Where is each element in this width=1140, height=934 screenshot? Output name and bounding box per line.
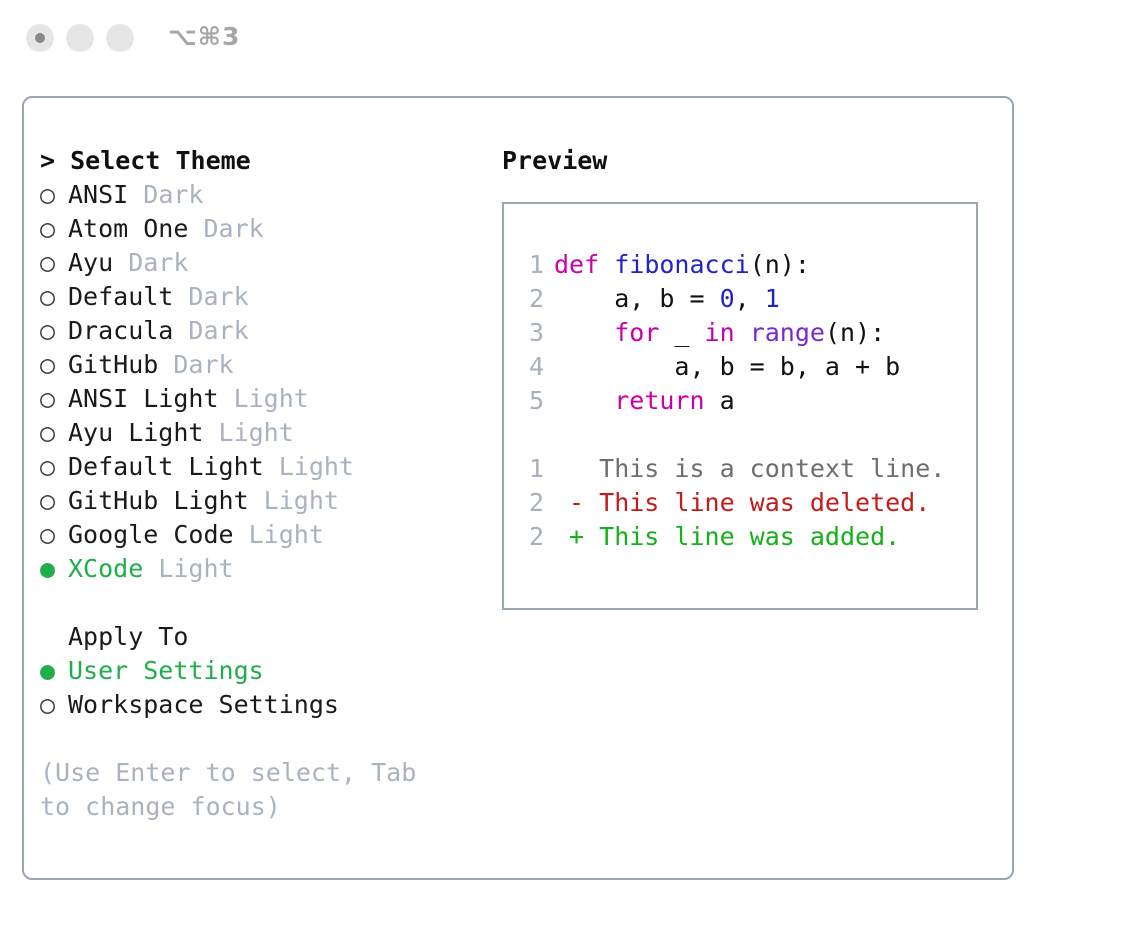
theme-option-name: Ayu: [68, 248, 113, 277]
theme-option-row[interactable]: ○Dracula Dark: [40, 314, 490, 348]
apply-to-option-name: Workspace Settings: [68, 690, 339, 719]
code-token: _: [659, 318, 704, 347]
theme-option-row[interactable]: ○ANSI Light Light: [40, 382, 490, 416]
apply-to-heading: Apply To: [40, 620, 490, 654]
preview-box: 1def fibonacci(n):2 a, b = 0, 13 for _ i…: [502, 202, 978, 610]
radio-unselected-icon: ○: [40, 518, 68, 552]
select-theme-heading: > Select Theme: [40, 144, 490, 178]
code-line-number: 4: [512, 350, 544, 384]
diff-line-text: + This line was added.: [554, 522, 900, 551]
apply-to-list[interactable]: ●User Settings○Workspace Settings: [40, 654, 490, 722]
theme-option-kind: Dark: [173, 282, 248, 311]
theme-selection-column: > Select Theme ○ANSI Dark○Atom One Dark○…: [40, 144, 490, 824]
traffic-light-second-icon[interactable]: [66, 24, 94, 52]
diff-line-text: This is a context line.: [554, 454, 945, 483]
code-token: [554, 318, 614, 347]
radio-unselected-icon: ○: [40, 314, 68, 348]
radio-unselected-icon: ○: [40, 484, 68, 518]
radio-unselected-icon: ○: [40, 688, 68, 722]
code-token: [735, 318, 750, 347]
theme-option-row[interactable]: ○Ayu Dark: [40, 246, 490, 280]
preview-column: Preview 1def fibonacci(n):2 a, b = 0, 13…: [502, 144, 1002, 610]
apply-to-section: Apply To ●User Settings○Workspace Settin…: [40, 620, 490, 722]
radio-unselected-icon: ○: [40, 382, 68, 416]
code-line: 3 for _ in range(n):: [512, 316, 976, 350]
theme-option-kind: Dark: [173, 316, 248, 345]
diff-line-number: 1: [512, 452, 544, 486]
radio-selected-icon: ●: [40, 654, 68, 688]
radio-selected-icon: ●: [40, 552, 68, 586]
diff-line-number: 2: [512, 486, 544, 520]
code-token: in: [705, 318, 735, 347]
code-token: ,: [735, 284, 765, 313]
theme-list[interactable]: ○ANSI Dark○Atom One Dark○Ayu Dark○Defaul…: [40, 178, 490, 586]
theme-option-name: ANSI Light: [68, 384, 219, 413]
radio-unselected-icon: ○: [40, 348, 68, 382]
code-line: 1def fibonacci(n):: [512, 248, 976, 282]
code-token: fibonacci: [614, 250, 749, 279]
apply-to-option-row[interactable]: ●User Settings: [40, 654, 490, 688]
theme-option-kind: Dark: [188, 214, 263, 243]
theme-option-kind: Light: [219, 384, 309, 413]
apply-to-option-name: User Settings: [68, 656, 264, 685]
code-line: 4 a, b = b, a + b: [512, 350, 976, 384]
code-token: [554, 386, 614, 415]
radio-unselected-icon: ○: [40, 416, 68, 450]
radio-unselected-icon: ○: [40, 178, 68, 212]
code-token: 1: [765, 284, 780, 313]
apply-to-option-row[interactable]: ○Workspace Settings: [40, 688, 490, 722]
code-line-number: 1: [512, 248, 544, 282]
radio-unselected-icon: ○: [40, 280, 68, 314]
title-bar: ⌥⌘3: [0, 0, 1140, 78]
code-sample: 1def fibonacci(n):2 a, b = 0, 13 for _ i…: [512, 248, 976, 418]
theme-option-kind: Light: [234, 520, 324, 549]
code-token: for: [614, 318, 659, 347]
theme-option-row[interactable]: ●XCode Light: [40, 552, 490, 586]
traffic-light-active-icon[interactable]: [26, 24, 54, 52]
traffic-light-third-icon[interactable]: [106, 24, 134, 52]
diff-line: 2 + This line was added.: [512, 520, 976, 554]
theme-option-kind: Light: [203, 418, 293, 447]
theme-option-name: XCode: [68, 554, 143, 583]
code-line-number: 2: [512, 282, 544, 316]
code-token: a, b =: [554, 284, 720, 313]
theme-option-row[interactable]: ○ANSI Dark: [40, 178, 490, 212]
diff-line-number: 2: [512, 520, 544, 554]
theme-option-row[interactable]: ○GitHub Dark: [40, 348, 490, 382]
diff-line: 1 This is a context line.: [512, 452, 976, 486]
theme-option-kind: Light: [249, 486, 339, 515]
code-token: (n):: [825, 318, 885, 347]
code-token: return: [614, 386, 704, 415]
keyboard-shortcut-label: ⌥⌘3: [168, 22, 240, 51]
keyboard-hint-text: (Use Enter to select, Tab to change focu…: [40, 756, 450, 824]
code-line-number: 3: [512, 316, 544, 350]
theme-option-kind: Dark: [158, 350, 233, 379]
theme-option-row[interactable]: ○Default Light Light: [40, 450, 490, 484]
code-token: range: [750, 318, 825, 347]
theme-option-name: GitHub Light: [68, 486, 249, 515]
radio-unselected-icon: ○: [40, 246, 68, 280]
code-token: (n):: [750, 250, 810, 279]
theme-option-row[interactable]: ○Google Code Light: [40, 518, 490, 552]
diff-line-text: - This line was deleted.: [554, 488, 930, 517]
radio-unselected-icon: ○: [40, 450, 68, 484]
theme-option-name: GitHub: [68, 350, 158, 379]
theme-option-name: Google Code: [68, 520, 234, 549]
code-token: a: [705, 386, 735, 415]
theme-option-kind: Light: [264, 452, 354, 481]
diff-sample: 1 This is a context line.2 - This line w…: [512, 452, 976, 554]
theme-option-row[interactable]: ○Ayu Light Light: [40, 416, 490, 450]
theme-picker-panel: > Select Theme ○ANSI Dark○Atom One Dark○…: [22, 96, 1014, 880]
code-line: 2 a, b = 0, 1: [512, 282, 976, 316]
code-token: [599, 250, 614, 279]
theme-option-name: Default Light: [68, 452, 264, 481]
theme-option-kind: Dark: [128, 180, 203, 209]
theme-option-row[interactable]: ○Default Dark: [40, 280, 490, 314]
theme-option-name: Default: [68, 282, 173, 311]
theme-option-kind: Light: [143, 554, 233, 583]
theme-option-kind: Dark: [113, 248, 188, 277]
radio-unselected-icon: ○: [40, 212, 68, 246]
theme-option-name: Atom One: [68, 214, 188, 243]
code-token: def: [554, 250, 599, 279]
code-line: 5 return a: [512, 384, 976, 418]
preview-heading: Preview: [502, 144, 1002, 178]
theme-option-name: ANSI: [68, 180, 128, 209]
code-token: 0: [720, 284, 735, 313]
code-token: a, b = b, a + b: [554, 352, 900, 381]
app-window: ⌥⌘3 > Select Theme ○ANSI Dark○Atom One D…: [0, 0, 1140, 934]
diff-line: 2 - This line was deleted.: [512, 486, 976, 520]
theme-option-row[interactable]: ○GitHub Light Light: [40, 484, 490, 518]
theme-option-row[interactable]: ○Atom One Dark: [40, 212, 490, 246]
theme-option-name: Dracula: [68, 316, 173, 345]
theme-option-name: Ayu Light: [68, 418, 203, 447]
code-line-number: 5: [512, 384, 544, 418]
